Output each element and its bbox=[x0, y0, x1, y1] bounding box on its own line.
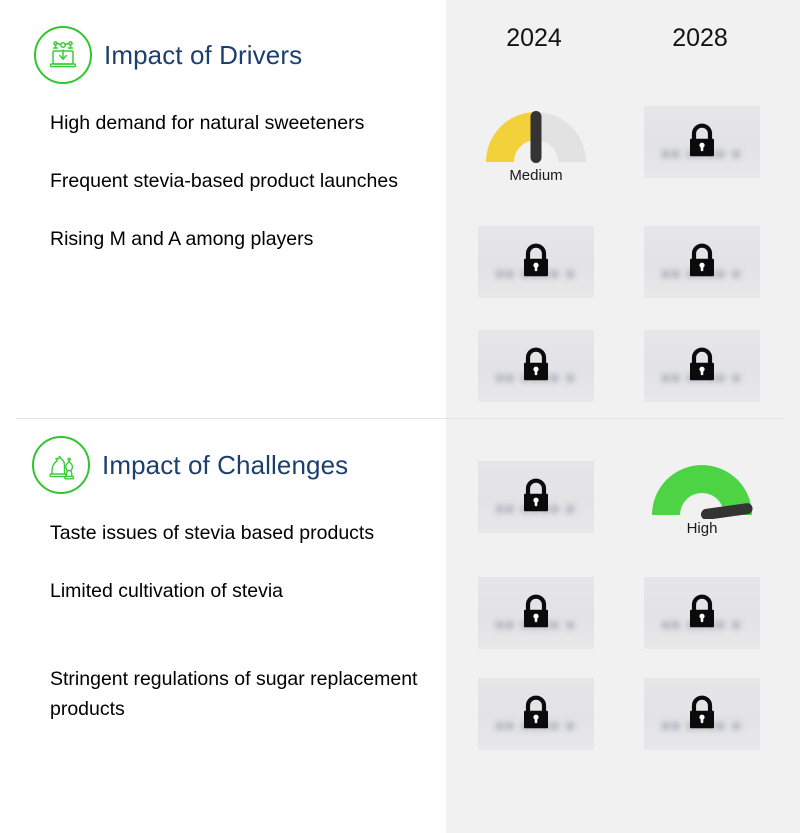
driver-item: Rising M and A among players bbox=[50, 224, 420, 254]
section-divider-left bbox=[16, 418, 446, 419]
locked-cell[interactable]: ■■ ■■■■ ■ bbox=[644, 577, 760, 649]
locked-cell[interactable]: ■■ ■■■■ ■ bbox=[478, 330, 594, 402]
lock-icon bbox=[685, 345, 719, 385]
lock-icon bbox=[685, 241, 719, 281]
cell-challenges-row2-2028[interactable]: ■■ ■■■■ ■ bbox=[644, 577, 760, 649]
locked-cell[interactable]: ■■ ■■■■ ■ bbox=[478, 461, 594, 533]
section-header-drivers: Impact of Drivers bbox=[34, 26, 302, 84]
lock-icon bbox=[519, 693, 553, 733]
lock-icon bbox=[519, 241, 553, 281]
gauge-label-medium: Medium bbox=[509, 167, 562, 184]
challenge-item: Limited cultivation of stevia bbox=[50, 576, 420, 606]
gauge-dial bbox=[478, 104, 594, 166]
laptop-download-network-icon bbox=[34, 26, 92, 84]
cell-challenges-row1-2028: High bbox=[644, 457, 760, 547]
lock-icon bbox=[685, 121, 719, 161]
locked-cell[interactable]: ■■ ■■■■ ■ bbox=[644, 678, 760, 750]
cell-challenges-row3-2024[interactable]: ■■ ■■■■ ■ bbox=[478, 678, 594, 750]
gauge-high-2028: High bbox=[644, 457, 760, 547]
gauge-dial bbox=[644, 457, 760, 519]
challenge-list: Taste issues of stevia based products Li… bbox=[50, 518, 420, 724]
lock-icon bbox=[519, 345, 553, 385]
section-title-challenges: Impact of Challenges bbox=[102, 450, 348, 481]
cell-drivers-row2-2024[interactable]: ■■ ■■■■ ■ bbox=[478, 226, 594, 298]
locked-cell[interactable]: ■■ ■■■■ ■ bbox=[478, 577, 594, 649]
locked-cell[interactable]: ■■ ■■■■ ■ bbox=[644, 330, 760, 402]
driver-item: Frequent stevia-based product launches bbox=[50, 166, 420, 196]
locked-cell[interactable]: ■■ ■■■■ ■ bbox=[644, 106, 760, 178]
driver-item: High demand for natural sweeteners bbox=[50, 108, 420, 138]
gauge-label-high: High bbox=[687, 520, 718, 537]
cell-drivers-row3-2024[interactable]: ■■ ■■■■ ■ bbox=[478, 330, 594, 402]
challenge-item: Taste issues of stevia based products bbox=[50, 518, 420, 548]
locked-cell[interactable]: ■■ ■■■■ ■ bbox=[644, 226, 760, 298]
cell-drivers-row1-2024: Medium bbox=[478, 104, 594, 194]
section-header-challenges: Impact of Challenges bbox=[32, 436, 348, 494]
locked-cell[interactable]: ■■ ■■■■ ■ bbox=[478, 678, 594, 750]
lock-icon bbox=[685, 693, 719, 733]
column-header-2024: 2024 bbox=[474, 24, 594, 53]
cell-challenges-row2-2024[interactable]: ■■ ■■■■ ■ bbox=[478, 577, 594, 649]
lock-icon bbox=[519, 476, 553, 516]
section-divider-right bbox=[446, 418, 784, 419]
chess-pieces-icon bbox=[32, 436, 90, 494]
cell-drivers-row2-2028[interactable]: ■■ ■■■■ ■ bbox=[644, 226, 760, 298]
cell-challenges-row3-2028[interactable]: ■■ ■■■■ ■ bbox=[644, 678, 760, 750]
cell-drivers-row3-2028[interactable]: ■■ ■■■■ ■ bbox=[644, 330, 760, 402]
cell-drivers-row1-2028[interactable]: ■■ ■■■■ ■ bbox=[644, 106, 760, 178]
challenge-item: Stringent regulations of sugar replaceme… bbox=[50, 664, 420, 724]
cell-challenges-row1-2024[interactable]: ■■ ■■■■ ■ bbox=[478, 461, 594, 533]
infographic-root: 2024 2028 Impact of bbox=[0, 0, 800, 833]
column-header-2028: 2028 bbox=[640, 24, 760, 53]
driver-list: High demand for natural sweeteners Frequ… bbox=[50, 108, 420, 254]
lock-icon bbox=[519, 592, 553, 632]
locked-cell[interactable]: ■■ ■■■■ ■ bbox=[478, 226, 594, 298]
gauge-medium-2024: Medium bbox=[478, 104, 594, 194]
lock-icon bbox=[685, 592, 719, 632]
section-title-drivers: Impact of Drivers bbox=[104, 40, 302, 71]
